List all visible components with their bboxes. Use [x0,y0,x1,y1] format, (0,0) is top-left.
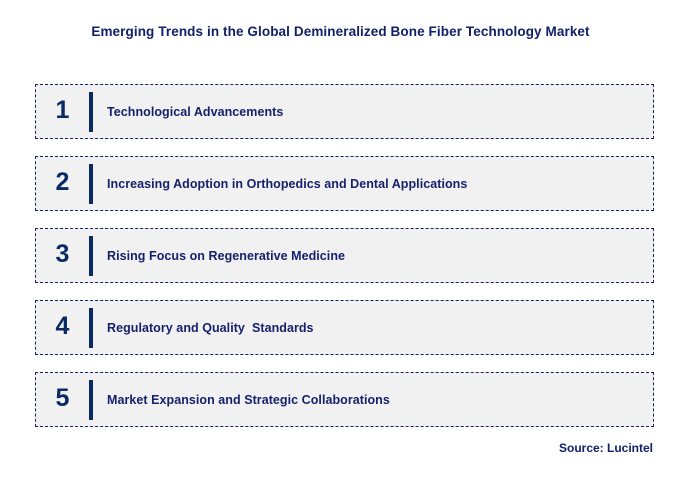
trend-number: 4 [36,314,89,341]
trend-number: 5 [36,386,89,413]
list-item: 2 Increasing Adoption in Orthopedics and… [35,156,654,211]
list-item: 4 Regulatory and Quality Standards [35,300,654,355]
trend-list: 1 Technological Advancements 2 Increasin… [35,84,654,427]
page-title: Emerging Trends in the Global Deminerali… [0,24,681,39]
trend-label: Technological Advancements [93,105,653,119]
infographic-canvas: Emerging Trends in the Global Deminerali… [0,0,681,489]
trend-number: 3 [36,242,89,269]
trend-label: Regulatory and Quality Standards [93,321,653,335]
source-attribution: Source: Lucintel [559,441,653,455]
list-item: 5 Market Expansion and Strategic Collabo… [35,372,654,427]
trend-label: Rising Focus on Regenerative Medicine [93,249,653,263]
trend-number: 1 [36,98,89,125]
list-item: 1 Technological Advancements [35,84,654,139]
trend-label: Increasing Adoption in Orthopedics and D… [93,177,653,191]
list-item: 3 Rising Focus on Regenerative Medicine [35,228,654,283]
trend-number: 2 [36,170,89,197]
trend-label: Market Expansion and Strategic Collabora… [93,393,653,407]
